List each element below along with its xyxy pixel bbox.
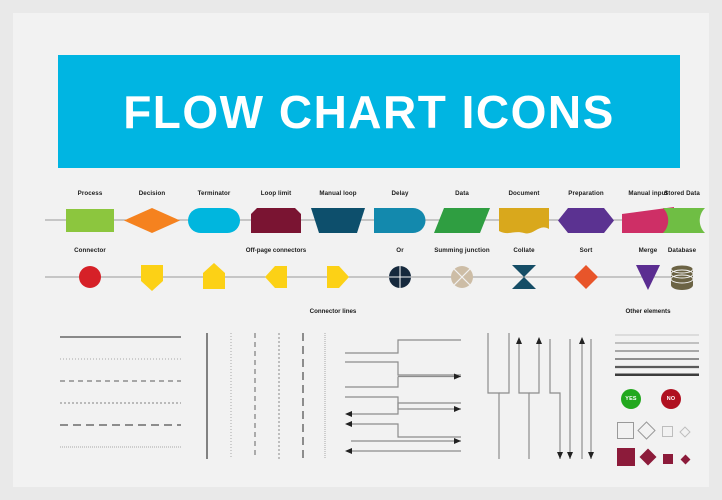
other-elements-panel: YES NO xyxy=(613,331,703,461)
preparation-icon xyxy=(554,203,618,237)
database-icon xyxy=(653,260,711,294)
connector-circle[interactable]: Connector xyxy=(58,260,122,294)
badge-no-label: NO xyxy=(667,396,676,402)
shape-label-delay: Delay xyxy=(368,190,432,197)
group-label-sort: Sort xyxy=(554,247,618,254)
shape-stored-data[interactable]: Stored Data xyxy=(653,203,711,237)
offpage-connector-up[interactable] xyxy=(182,260,246,294)
document-icon xyxy=(492,203,556,237)
shape-label-stored-data: Stored Data xyxy=(653,190,711,197)
shape-loop-limit[interactable]: Loop limit xyxy=(244,203,308,237)
offpage-left-icon xyxy=(244,260,308,294)
shape-label-document: Document xyxy=(492,190,556,197)
outline-square-large xyxy=(617,422,634,439)
filled-square-large xyxy=(617,448,635,466)
connector-database[interactable]: Database xyxy=(653,260,711,294)
stepped-connectors-horizontal-panel xyxy=(343,331,463,461)
group-label-connector: Connector xyxy=(58,247,122,254)
process-icon xyxy=(58,203,122,237)
offpage-up-icon xyxy=(182,260,246,294)
terminator-icon xyxy=(182,203,246,237)
group-label-summing-junction: Summing junction xyxy=(430,247,494,254)
or-icon xyxy=(368,260,432,294)
shape-label-process: Process xyxy=(58,190,122,197)
horizontal-line-styles-panel xyxy=(58,331,183,461)
summing-junction-icon xyxy=(430,260,494,294)
filled-square-small xyxy=(663,454,673,464)
shape-label-preparation: Preparation xyxy=(554,190,618,197)
shape-delay[interactable]: Delay xyxy=(368,203,432,237)
connector-or[interactable]: Or xyxy=(368,260,432,294)
data-icon xyxy=(430,203,494,237)
outline-square-small xyxy=(662,426,673,437)
outline-diamond-small xyxy=(679,426,690,437)
vertical-line-styles xyxy=(203,331,328,461)
stored-data-icon xyxy=(653,203,711,237)
shape-document[interactable]: Document xyxy=(492,203,556,237)
group-label-or: Or xyxy=(368,247,432,254)
collate-icon xyxy=(492,260,556,294)
shape-label-data: Data xyxy=(430,190,494,197)
outline-diamond-large xyxy=(637,421,655,439)
offpage-connector-right[interactable] xyxy=(306,260,370,294)
group-label-collate: Collate xyxy=(492,247,556,254)
badge-yes[interactable]: YES xyxy=(621,389,641,409)
stepped-connectors-vertical xyxy=(478,331,598,461)
section-label-connector-lines: Connector lines xyxy=(268,308,398,315)
section-label-other-elements: Other elements xyxy=(598,308,698,315)
title-banner: FLOW CHART ICONS xyxy=(58,55,680,168)
shape-label-terminator: Terminator xyxy=(182,190,246,197)
horizontal-line-styles xyxy=(58,331,183,461)
decision-icon xyxy=(120,203,184,237)
offpage-connector-left[interactable] xyxy=(244,260,308,294)
connector-summing-junction[interactable]: Summing junction xyxy=(430,260,494,294)
vertical-line-styles-panel xyxy=(203,331,328,461)
loop-limit-icon xyxy=(244,203,308,237)
badge-yes-label: YES xyxy=(625,396,636,402)
group-label-database: Database xyxy=(653,247,711,254)
page-title: FLOW CHART ICONS xyxy=(123,85,615,139)
filled-diamond-large xyxy=(640,449,657,466)
poster-canvas: FLOW CHART ICONS Process Decision Termin… xyxy=(13,13,709,487)
offpage-right-icon xyxy=(306,260,370,294)
shape-data[interactable]: Data xyxy=(430,203,494,237)
offpage-connector-down[interactable] xyxy=(120,260,184,294)
stroke-weight-samples xyxy=(613,331,703,376)
sort-icon xyxy=(554,260,618,294)
delay-icon xyxy=(368,203,432,237)
shape-label-decision: Decision xyxy=(120,190,184,197)
shape-label-manual-loop: Manual loop xyxy=(306,190,370,197)
filled-diamond-small xyxy=(681,455,691,465)
shape-decision[interactable]: Decision xyxy=(120,203,184,237)
shape-process[interactable]: Process xyxy=(58,203,122,237)
manual-loop-icon xyxy=(306,203,370,237)
offpage-down-icon xyxy=(120,260,184,294)
connector-icon xyxy=(58,260,122,294)
shape-label-loop-limit: Loop limit xyxy=(244,190,308,197)
connector-sort[interactable]: Sort xyxy=(554,260,618,294)
stepped-connectors-vertical-panel xyxy=(478,331,598,461)
group-label-offpage-connectors: Off-page connectors xyxy=(183,247,369,254)
shape-preparation[interactable]: Preparation xyxy=(554,203,618,237)
connector-collate[interactable]: Collate xyxy=(492,260,556,294)
stepped-connectors-horizontal xyxy=(343,331,463,461)
shape-terminator[interactable]: Terminator xyxy=(182,203,246,237)
shape-manual-loop[interactable]: Manual loop xyxy=(306,203,370,237)
badge-no[interactable]: NO xyxy=(661,389,681,409)
